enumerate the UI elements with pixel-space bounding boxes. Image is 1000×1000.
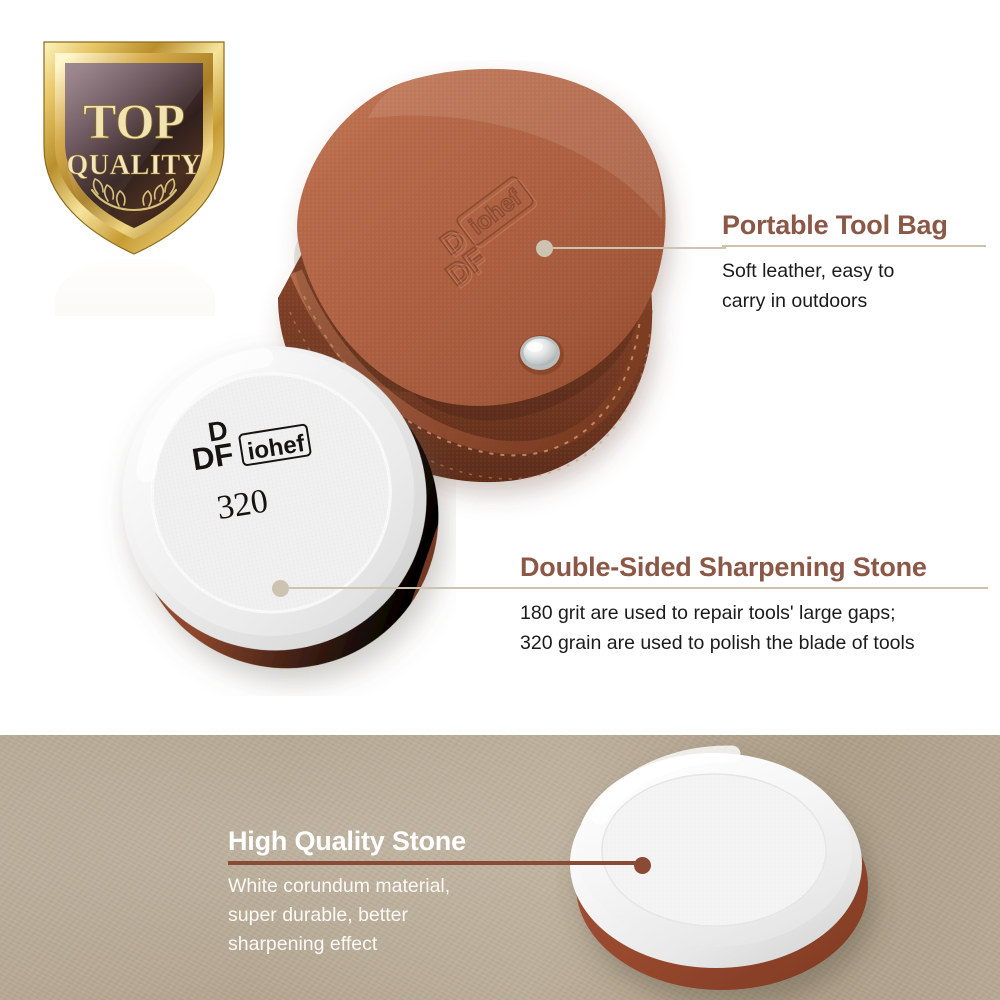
callout-title: High Quality Stone bbox=[228, 826, 528, 857]
badge-line2: QUALITY bbox=[67, 150, 202, 181]
callout-rule bbox=[722, 245, 986, 247]
infographic-canvas: TOP QUALITY bbox=[0, 0, 1000, 1000]
callout-body-line: 180 grit are used to repair tools' large… bbox=[520, 598, 988, 628]
callout-body: White corundum material, super durable, … bbox=[228, 872, 528, 959]
callout-body-line: 320 grain are used to polish the blade o… bbox=[520, 628, 988, 658]
callout-body-line: carry in outdoors bbox=[722, 286, 986, 316]
callout-high-quality-stone: High Quality Stone White corundum materi… bbox=[228, 826, 528, 959]
callout-body-line: White corundum material, bbox=[228, 872, 528, 901]
connector-portable-tool-bag bbox=[536, 238, 726, 258]
callout-body-line: sharpening effect bbox=[228, 930, 528, 959]
callout-body-line: Soft leather, easy to bbox=[722, 256, 986, 286]
callout-rule bbox=[228, 861, 640, 863]
brand-mark-line2: DF bbox=[190, 436, 236, 477]
top-quality-badge: TOP QUALITY bbox=[38, 34, 230, 258]
callout-body: Soft leather, easy to carry in outdoors bbox=[722, 256, 986, 316]
connector-line bbox=[549, 247, 726, 249]
callout-portable-tool-bag: Portable Tool Bag Soft leather, easy to … bbox=[722, 210, 986, 316]
callout-title: Portable Tool Bag bbox=[722, 210, 986, 241]
callout-double-sided-sharpening-stone: Double-Sided Sharpening Stone 180 grit a… bbox=[520, 552, 988, 658]
connector-double-sided-stone bbox=[272, 578, 522, 598]
sharpening-stone-bottom bbox=[556, 700, 966, 1000]
callout-title: Double-Sided Sharpening Stone bbox=[520, 552, 988, 583]
connector-dot bbox=[634, 857, 651, 874]
callout-rule bbox=[520, 587, 988, 589]
grit-label: 320 bbox=[214, 483, 270, 528]
callout-body: 180 grit are used to repair tools' large… bbox=[520, 598, 988, 658]
badge-line1: TOP bbox=[83, 93, 185, 149]
sharpening-stone-main: D DF iohef 320 bbox=[96, 296, 456, 696]
connector-line bbox=[285, 587, 522, 589]
snap-button-icon bbox=[518, 335, 564, 375]
shield-badge-icon: TOP QUALITY bbox=[38, 34, 230, 258]
callout-body-line: super durable, better bbox=[228, 901, 528, 930]
